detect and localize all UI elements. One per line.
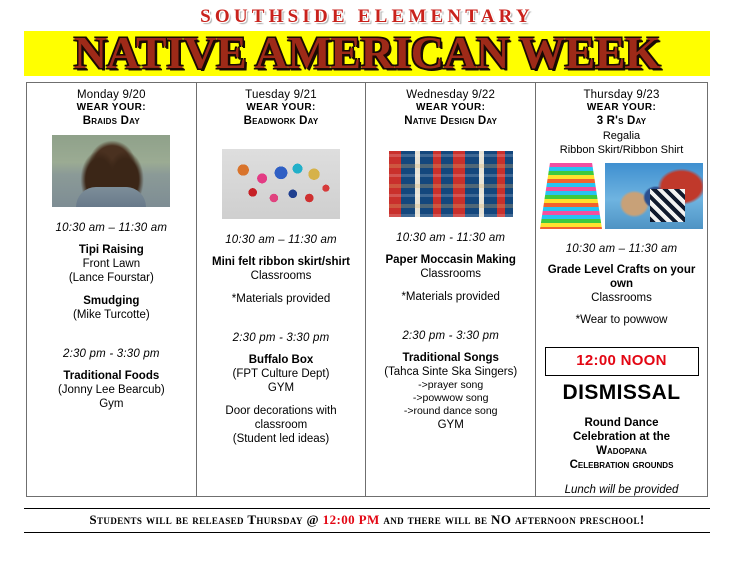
theme-label: Native Design Day xyxy=(404,114,497,128)
song-item-1: ->prayer song xyxy=(418,379,483,392)
regalia-dancer-photo xyxy=(605,163,703,229)
morning-activity: Tipi Raising xyxy=(79,243,144,257)
morning-presenter-2: (Mike Turcotte) xyxy=(73,308,150,322)
morning-note: *Materials provided xyxy=(232,292,330,306)
song-item-3: ->round dance song xyxy=(404,405,498,418)
afternoon-activity: Traditional Songs xyxy=(402,351,498,365)
afternoon-location: GYM xyxy=(438,418,464,432)
afternoon-time: 2:30 pm - 3:30 pm xyxy=(402,330,499,342)
schedule-column-thursday: Thursday 9/23 WEAR YOUR: 3 R's Day Regal… xyxy=(536,83,707,496)
flyer-page: SOUTHSIDE ELEMENTARY NATIVE AMERICAN WEE… xyxy=(0,0,734,567)
day-heading: Tuesday 9/21 xyxy=(245,89,317,101)
ribbon-skirt-photo xyxy=(540,163,602,229)
morning-time: 10:30 am – 11:30 am xyxy=(225,234,337,246)
afternoon-activity: Traditional Foods xyxy=(63,369,159,383)
lunch-note: Lunch will be provided xyxy=(565,484,679,496)
day-heading: Wednesday 9/22 xyxy=(406,89,495,101)
afternoon-location: GYM xyxy=(268,381,294,395)
image-area xyxy=(540,163,703,229)
morning-activity: Mini felt ribbon skirt/shirt xyxy=(212,255,350,269)
footer-highlight-time: 12:00 PM xyxy=(323,512,380,527)
braids-photo xyxy=(52,135,170,207)
morning-location: Classrooms xyxy=(420,267,481,281)
afternoon-location: Gym xyxy=(99,397,123,411)
morning-note: *Materials provided xyxy=(401,290,499,304)
footer-text-after: and there will be NO afternoon preschool… xyxy=(380,512,645,527)
page-title: NATIVE AMERICAN WEEK xyxy=(0,30,734,76)
round-dance-line-1: Round Dance xyxy=(584,416,658,430)
theme-label: Braids Day xyxy=(83,114,140,128)
day-heading: Monday 9/20 xyxy=(77,89,146,101)
flyer-header: SOUTHSIDE ELEMENTARY NATIVE AMERICAN WEE… xyxy=(0,0,734,76)
song-item-2: ->powwow song xyxy=(413,392,489,405)
morning-presenter: (Lance Fourstar) xyxy=(69,271,154,285)
schedule-column-tuesday: Tuesday 9/21 WEAR YOUR: Beadwork Day 10:… xyxy=(197,83,367,496)
morning-location: Classrooms xyxy=(591,291,652,305)
afternoon-presenter: (Tahca Sinte Ska Singers) xyxy=(384,365,517,379)
afternoon-time: 2:30 pm - 3:30 pm xyxy=(63,348,160,360)
morning-note: *Wear to powwow xyxy=(576,313,668,327)
footer-text-before: Students will be released Thursday @ xyxy=(89,512,322,527)
noon-dismissal-box: 12:00 NOON xyxy=(545,347,699,376)
dismissal-label: DISMISSAL xyxy=(563,381,681,405)
round-dance-line-3: Wadopana xyxy=(596,444,647,458)
morning-location: Front Lawn xyxy=(83,257,141,271)
weekly-schedule-table: Monday 9/20 WEAR YOUR: Braids Day 10:30 … xyxy=(26,82,708,497)
footer-banner: Students will be released Thursday @ 12:… xyxy=(24,508,710,533)
wear-label: WEAR YOUR: xyxy=(416,102,485,113)
school-name: SOUTHSIDE ELEMENTARY xyxy=(0,6,734,28)
theme-sub-2: Ribbon Skirt/Ribbon Shirt xyxy=(560,143,684,157)
round-dance-line-2: Celebration at the xyxy=(573,430,670,444)
day-heading: Thursday 9/23 xyxy=(583,89,659,101)
afternoon-note-2: (Student led ideas) xyxy=(233,432,330,446)
afternoon-presenter: (Jonny Lee Bearcub) xyxy=(58,383,165,397)
round-dance-line-4: Celebration grounds xyxy=(570,458,674,472)
afternoon-time: 2:30 pm - 3:30 pm xyxy=(233,332,330,344)
theme-label: 3 R's Day xyxy=(597,114,647,128)
noon-time: 12:00 NOON xyxy=(576,352,667,369)
theme-sub-1: Regalia xyxy=(603,129,640,143)
morning-time: 10:30 am – 11:30 am xyxy=(566,243,678,255)
image-area xyxy=(52,135,170,207)
native-design-photo xyxy=(389,151,513,217)
image-area xyxy=(389,151,513,217)
morning-activity: Paper Moccasin Making xyxy=(385,253,515,267)
wear-label: WEAR YOUR: xyxy=(77,102,146,113)
afternoon-presenter: (FPT Culture Dept) xyxy=(233,367,330,381)
morning-time: 10:30 am – 11:30 am xyxy=(56,222,168,234)
afternoon-note: Door decorations with classroom xyxy=(201,404,362,432)
wear-label: WEAR YOUR: xyxy=(587,102,656,113)
schedule-column-monday: Monday 9/20 WEAR YOUR: Braids Day 10:30 … xyxy=(27,83,197,496)
morning-time: 10:30 am - 11:30 am xyxy=(396,232,505,244)
morning-activity-2: Smudging xyxy=(83,294,139,308)
morning-activity: Grade Level Crafts on your own xyxy=(540,263,703,291)
wear-label: WEAR YOUR: xyxy=(246,102,315,113)
beadwork-photo xyxy=(222,149,340,219)
afternoon-activity: Buffalo Box xyxy=(249,353,314,367)
schedule-column-wednesday: Wednesday 9/22 WEAR YOUR: Native Design … xyxy=(366,83,536,496)
theme-label: Beadwork Day xyxy=(244,114,319,128)
image-area xyxy=(222,149,340,219)
morning-location: Classrooms xyxy=(251,269,312,283)
